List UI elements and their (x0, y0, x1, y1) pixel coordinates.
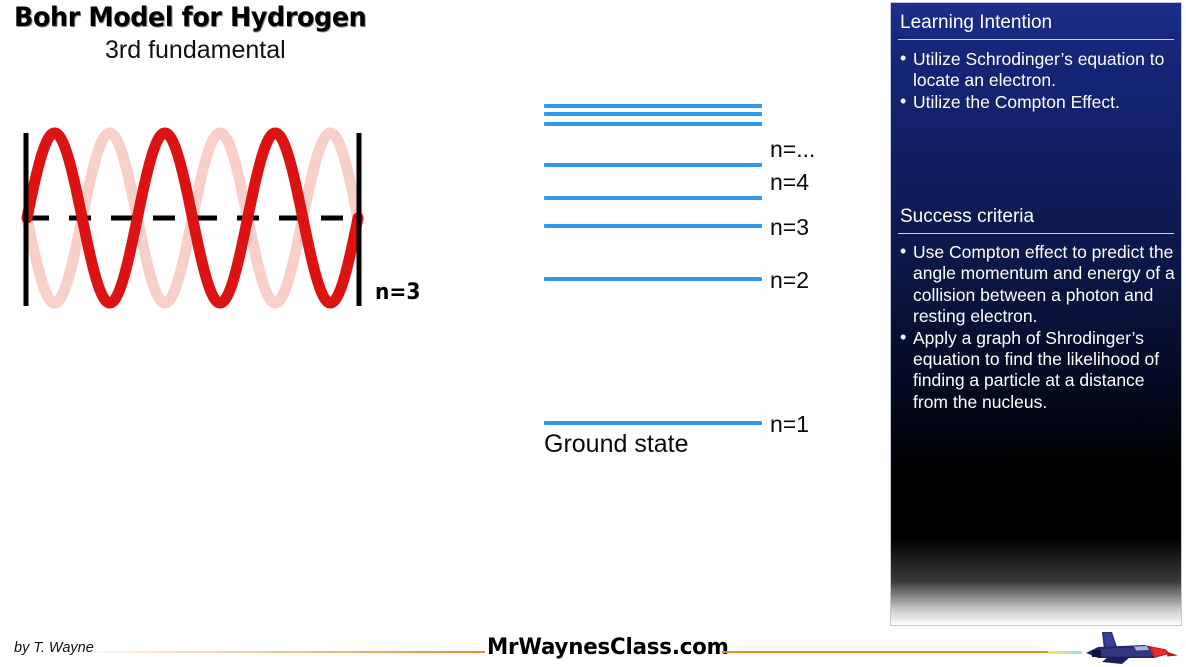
energy-level-line (544, 277, 762, 281)
energy-level-line (544, 421, 762, 425)
success-criteria-divider (898, 233, 1174, 234)
energy-level-line (544, 224, 762, 228)
bullet-icon: • (900, 241, 906, 262)
energy-level-diagram: n=...n=4n=3n=2n=1 Ground state (520, 90, 880, 470)
learning-intention-divider (898, 39, 1174, 40)
page-title: Bohr Model for Hydrogen (14, 2, 366, 33)
energy-level-line (544, 122, 762, 126)
standing-wave-figure: n=3 (0, 95, 450, 335)
energy-level-line (544, 104, 762, 108)
objective-text: Utilize the Compton Effect. (913, 92, 1120, 112)
energy-level-line (544, 112, 762, 116)
energy-level-line (544, 163, 762, 167)
energy-level-label: n=... (770, 136, 815, 163)
energy-level-label: n=1 (770, 411, 809, 438)
footer-bar: by T. Wayne MrWaynesClass.com (0, 626, 1186, 667)
objectives-panel: Learning Intention •Utilize Schrodinger’… (890, 2, 1182, 626)
objective-list-item: •Utilize the Compton Effect. (899, 92, 1175, 113)
solid-wave-path (27, 133, 358, 303)
ground-state-label: Ground state (544, 430, 689, 459)
footer-rule-left (85, 651, 485, 653)
energy-level-label: n=2 (770, 267, 809, 294)
bullet-icon: • (900, 91, 906, 112)
slide-canvas: Bohr Model for Hydrogen 3rd fundamental … (0, 0, 1186, 667)
objective-text: Use Compton effect to predict the angle … (913, 242, 1175, 326)
objective-list-item: •Apply a graph of Shrodinger’s equation … (899, 328, 1175, 414)
energy-level-label: n=3 (770, 214, 809, 241)
success-criteria-heading: Success criteria (900, 206, 1034, 228)
learning-intention-list: •Utilize Schrodinger’s equation to locat… (899, 49, 1175, 113)
objective-text: Apply a graph of Shrodinger’s equation t… (913, 328, 1159, 412)
objective-list-item: •Use Compton effect to predict the angle… (899, 242, 1175, 328)
bullet-icon: • (900, 48, 906, 69)
energy-level-line (544, 196, 762, 200)
page-subtitle: 3rd fundamental (105, 36, 286, 65)
energy-level-label: n=4 (770, 169, 809, 196)
byline-text: by T. Wayne (14, 640, 94, 656)
objective-text: Utilize Schrodinger’s equation to locate… (913, 49, 1164, 90)
wave-mode-label: n=3 (375, 280, 420, 305)
site-name-text: MrWaynesClass.com (487, 635, 729, 660)
footer-rule-right (722, 651, 1067, 653)
learning-intention-heading: Learning Intention (900, 12, 1052, 34)
jet-plane-logo-icon (1068, 628, 1180, 666)
success-criteria-list: •Use Compton effect to predict the angle… (899, 242, 1175, 413)
objective-list-item: •Utilize Schrodinger’s equation to locat… (899, 49, 1175, 92)
bullet-icon: • (900, 327, 906, 348)
